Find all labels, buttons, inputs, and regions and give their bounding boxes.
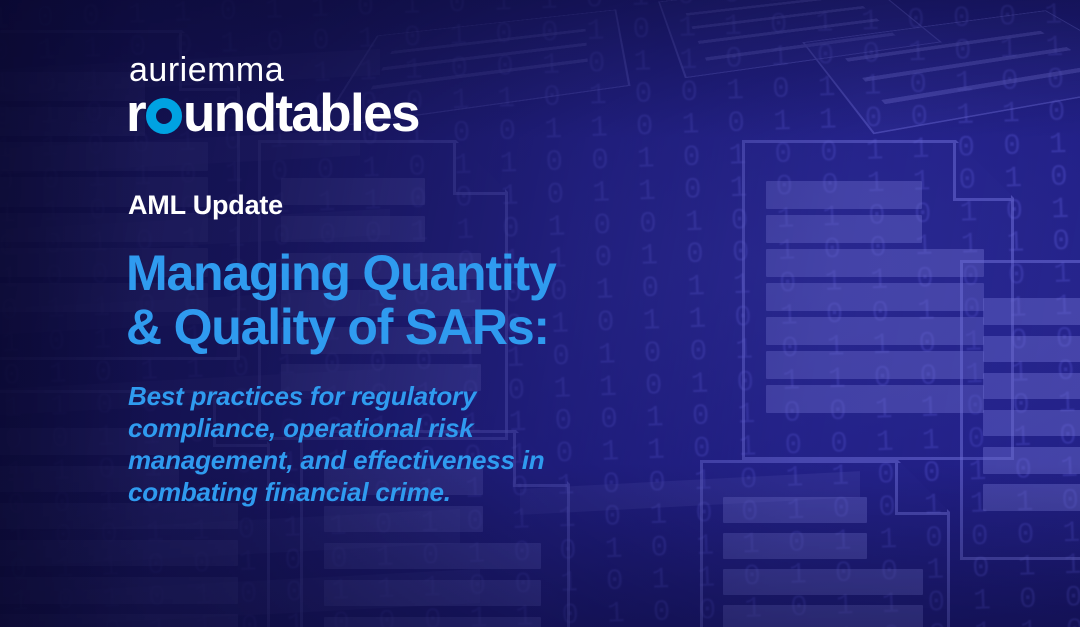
slide-kicker: AML Update: [128, 190, 283, 221]
slide-headline: Managing Quantity & Quality of SARs:: [126, 246, 556, 354]
auriemma-roundtables-logo: auriemma r undtables: [126, 52, 419, 142]
subhead-line-2: compliance, operational risk: [128, 412, 668, 444]
logo-roundtables-suffix: undtables: [183, 86, 419, 142]
subhead-line-1: Best practices for regulatory: [128, 380, 668, 412]
logo-roundtables-prefix: r: [126, 86, 145, 142]
logo-word-roundtables: r undtables: [126, 86, 419, 142]
slide-content: auriemma r undtables AML Update Managing…: [126, 0, 826, 627]
headline-line-1: Managing Quantity: [126, 246, 556, 300]
headline-line-2: & Quality of SARs:: [126, 300, 556, 354]
subhead-line-4: combating financial crime.: [128, 476, 668, 508]
presentation-slide: 1 0 0 1 1 0 1 0 0 1 1 1 0 0 1 0 1 1 0 1 …: [0, 0, 1080, 627]
logo-word-auriemma: auriemma: [129, 52, 419, 88]
subhead-line-3: management, and effectiveness in: [128, 444, 668, 476]
logo-accent-o-icon: [146, 98, 182, 134]
slide-subheadline: Best practices for regulatory compliance…: [128, 380, 668, 508]
